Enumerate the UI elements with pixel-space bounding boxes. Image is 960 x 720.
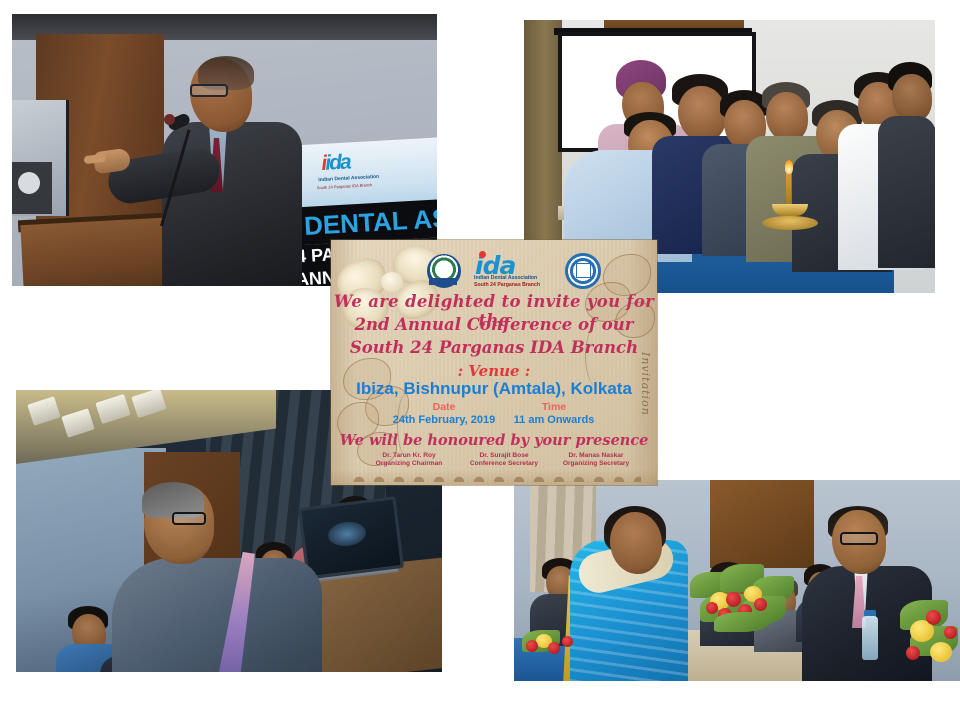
venue-label: : Venue : xyxy=(331,362,657,380)
vertical-invitation-text: Invitation xyxy=(639,352,652,416)
time-label: Time xyxy=(499,401,609,413)
card-line-2: 2nd Annual Conference of our xyxy=(331,315,657,334)
card-line-3: South 24 Parganas IDA Branch xyxy=(331,338,657,357)
date-label: Date xyxy=(389,401,499,413)
microphone-head xyxy=(164,114,175,125)
photo-collage: iida Indian Dental Association South 24 … xyxy=(0,0,960,720)
signatory-3: Dr. Manas Naskar Organizing Secretary xyxy=(543,452,649,467)
wood-panel xyxy=(710,480,814,568)
water-bottle xyxy=(862,616,878,660)
signatory-3-name: Dr. Manas Naskar xyxy=(569,452,624,459)
signatory-1-name: Dr. Tarun Kr. Roy xyxy=(382,452,435,459)
screen-circle xyxy=(18,172,40,194)
card-text-block: We are delighted to invite you for the 2… xyxy=(331,240,657,485)
venue-name: Ibiza, Bishnupur (Amtala), Kolkata xyxy=(331,379,657,399)
speaker-glasses xyxy=(172,512,206,525)
speaker-torso xyxy=(112,558,322,672)
photo-bouquet-presentation xyxy=(514,480,960,681)
lamp-flame xyxy=(785,160,793,174)
banner-ida-logo: iida xyxy=(321,150,350,176)
venue-label-text: : Venue : xyxy=(458,362,531,380)
signatory-2-name: Dr. Surajit Bose xyxy=(479,452,528,459)
man-glasses xyxy=(840,532,878,545)
speaker-glasses xyxy=(190,84,228,97)
banner-logo-subtitle-2: South 24 Parganas IDA Branch xyxy=(317,182,373,190)
ceremonial-lamp-base xyxy=(762,216,818,230)
closing-line: We will be honoured by your presence xyxy=(331,432,657,449)
invitation-card: ida Indian Dental Association South 24 P… xyxy=(331,240,657,485)
woman-head xyxy=(610,512,662,574)
signatory-3-role: Organizing Secretary xyxy=(543,460,649,467)
time-value: 11 am Onwards xyxy=(491,414,617,426)
